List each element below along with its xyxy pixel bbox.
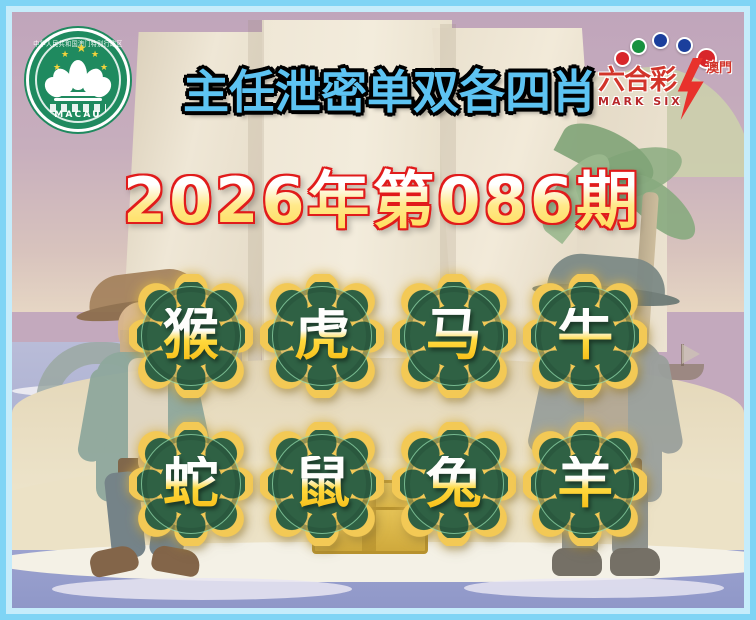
poster-frame: 中华人民共和国澳门特别行政区 ★ ★ ★ ★ ★ MACAU [0, 0, 756, 620]
poster-stage: 中华人民共和国澳门特别行政区 ★ ★ ★ ★ ★ MACAU [12, 12, 744, 608]
emblem-latin-text: MACAU [29, 110, 127, 120]
zodiac-label: 牛 [557, 308, 613, 364]
bridge-icon [52, 92, 104, 96]
zodiac-snake[interactable]: 蛇 [128, 412, 254, 556]
zodiac-monkey[interactable]: 猴 [128, 264, 254, 408]
emblem-star-icon: ★ [76, 44, 87, 53]
zodiac-label: 虎 [294, 308, 350, 364]
zodiac-ox[interactable]: 牛 [523, 264, 649, 408]
zodiac-tiger[interactable]: 虎 [260, 264, 386, 408]
zodiac-rabbit[interactable]: 兔 [391, 412, 517, 556]
ball-green-icon [630, 38, 647, 55]
zodiac-label: 猴 [163, 308, 219, 364]
bridge-icon [54, 98, 102, 101]
page-title: 主任泄密单双各四肖 [160, 56, 620, 122]
zodiac-horse[interactable]: 马 [391, 264, 517, 408]
zodiac-label: 羊 [557, 456, 613, 512]
issue-number: 2026年第086期 [52, 152, 712, 238]
zodiac-label: 蛇 [163, 456, 219, 512]
zodiac-label: 兔 [426, 456, 482, 512]
emblem-star-icon: ★ [61, 51, 69, 60]
zodiac-rat[interactable]: 鼠 [260, 412, 386, 556]
ball-blue-icon [652, 32, 669, 49]
zodiac-label: 马 [426, 308, 482, 364]
ball-blue-2-icon [676, 37, 693, 54]
emblem-star-icon: ★ [91, 51, 99, 60]
zodiac-label: 鼠 [294, 456, 350, 512]
zodiac-badge-grid: 猴 虎 马 牛 [128, 264, 648, 556]
macau-emblem: 中华人民共和国澳门特别行政区 ★ ★ ★ ★ ★ MACAU [26, 28, 130, 132]
zodiac-goat[interactable]: 羊 [523, 412, 649, 556]
mark-six-region-label: 澳門 [706, 62, 732, 76]
lotus-icon [50, 60, 106, 100]
